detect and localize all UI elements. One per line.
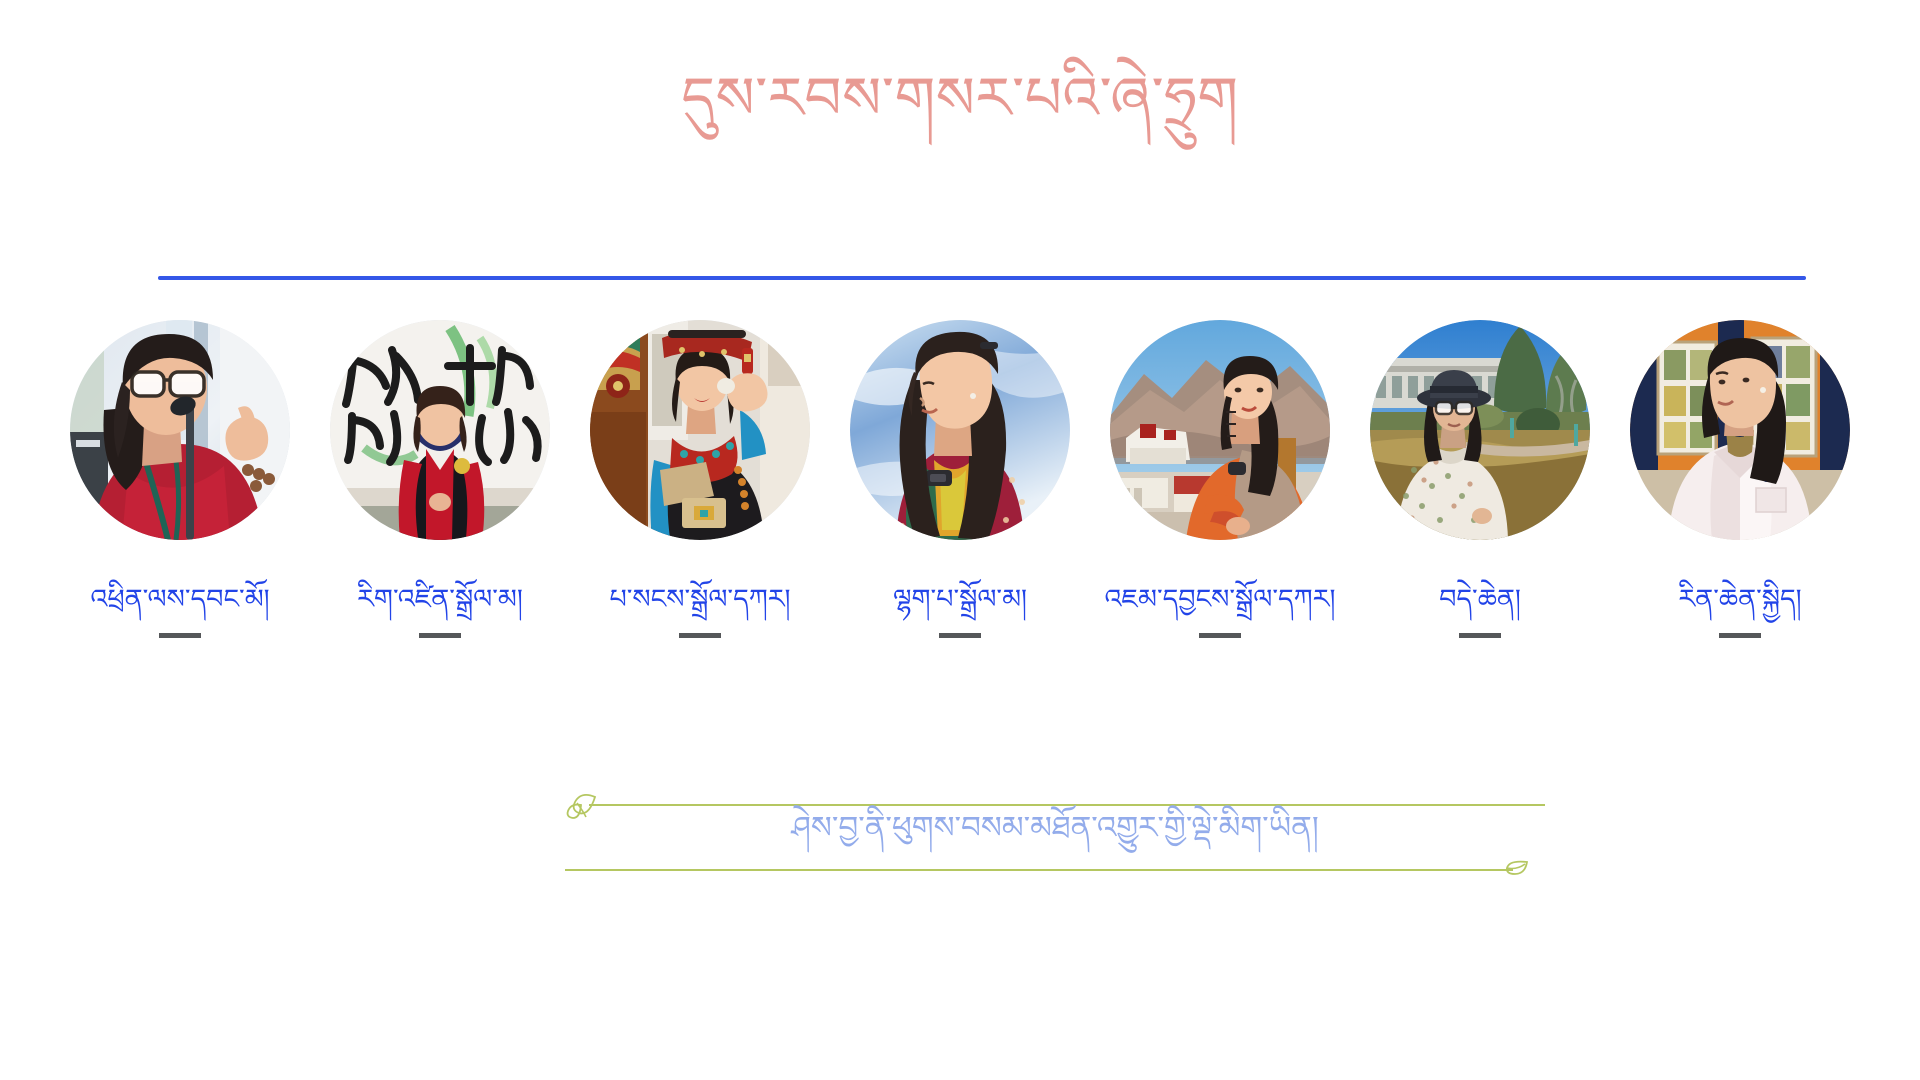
avatar[interactable] [330,320,550,540]
person-card[interactable]: རིག་འཛིན་སྒྲོལ་མ། [320,320,560,638]
portrait-photo-white-lab-coat [1630,320,1850,540]
person-card[interactable]: བདེ་ཆེན། [1360,320,1600,638]
avatar[interactable] [70,320,290,540]
name-underline-dash [1199,633,1241,638]
person-name: འཇམ་དབྱངས་སྒྲོལ་དཀར། [1105,582,1336,617]
leaf-tip-icon [1503,858,1529,878]
person-name: རིན་ཆེན་སྐྱིད། [1678,582,1801,617]
portrait-photo-profile-with-patterned-chuba [850,320,1070,540]
portrait-photo-bucket-hat-on-campus-lawn [1370,320,1590,540]
person-name: ལྷག་པ་སྒྲོལ་མ། [893,582,1027,617]
person-name: པ་སངས་སྒྲོལ་དཀར། [609,582,790,617]
avatar[interactable] [590,320,810,540]
person-name: བདེ་ཆེན། [1439,582,1521,617]
caption-rule-top [589,804,1545,806]
avatar[interactable] [1630,320,1850,540]
person-card[interactable]: འཕྲིན་ལས་དབང་མོ། [60,320,300,638]
person-card[interactable]: རིན་ཆེན་སྐྱིད། [1620,320,1860,638]
people-row: འཕྲིན་ལས་དབང་མོ། [60,320,1860,638]
person-card[interactable]: འཇམ་དབྱངས་སྒྲོལ་དཀར། [1100,320,1340,638]
name-underline-dash [1719,633,1761,638]
avatar[interactable] [850,320,1070,540]
name-underline-dash [1459,633,1501,638]
name-underline-dash [159,633,201,638]
name-underline-dash [679,633,721,638]
avatar[interactable] [1110,320,1330,540]
portrait-photo-orange-chuba-at-potala-palace [1110,320,1330,540]
name-underline-dash [419,633,461,638]
person-name: འཕྲིན་ལས་དབང་མོ། [90,582,269,617]
footer-caption-text: ཤེས་བྱ་ནི་ཕུགས་བསམ་མཐོན་འགྱུར་གྱི་ལྡེ་མི… [565,807,1545,850]
person-card[interactable]: པ་སངས་སྒྲོལ་དཀར། [580,320,820,638]
portrait-photo-podium-speaker [70,320,290,540]
avatar[interactable] [1370,320,1590,540]
footer-caption-block: ཤེས་བྱ་ནི་ཕུགས་བསམ་མཐོན་འགྱུར་གྱི་ལྡེ་མི… [565,793,1545,888]
header-divider [158,276,1806,280]
page-title: དུས་རབས་གསར་པའི་ཞེ་ཧྲུག [0,62,1920,135]
person-card[interactable]: ལྷག་པ་སྒྲོལ་མ། [840,320,1080,638]
name-underline-dash [939,633,981,638]
person-name: རིག་འཛིན་སྒྲོལ་མ། [357,582,523,617]
portrait-photo-traditional-tibetan-dress [590,320,810,540]
portrait-photo-graduation-gown [330,320,550,540]
caption-rule-bottom [565,869,1513,871]
